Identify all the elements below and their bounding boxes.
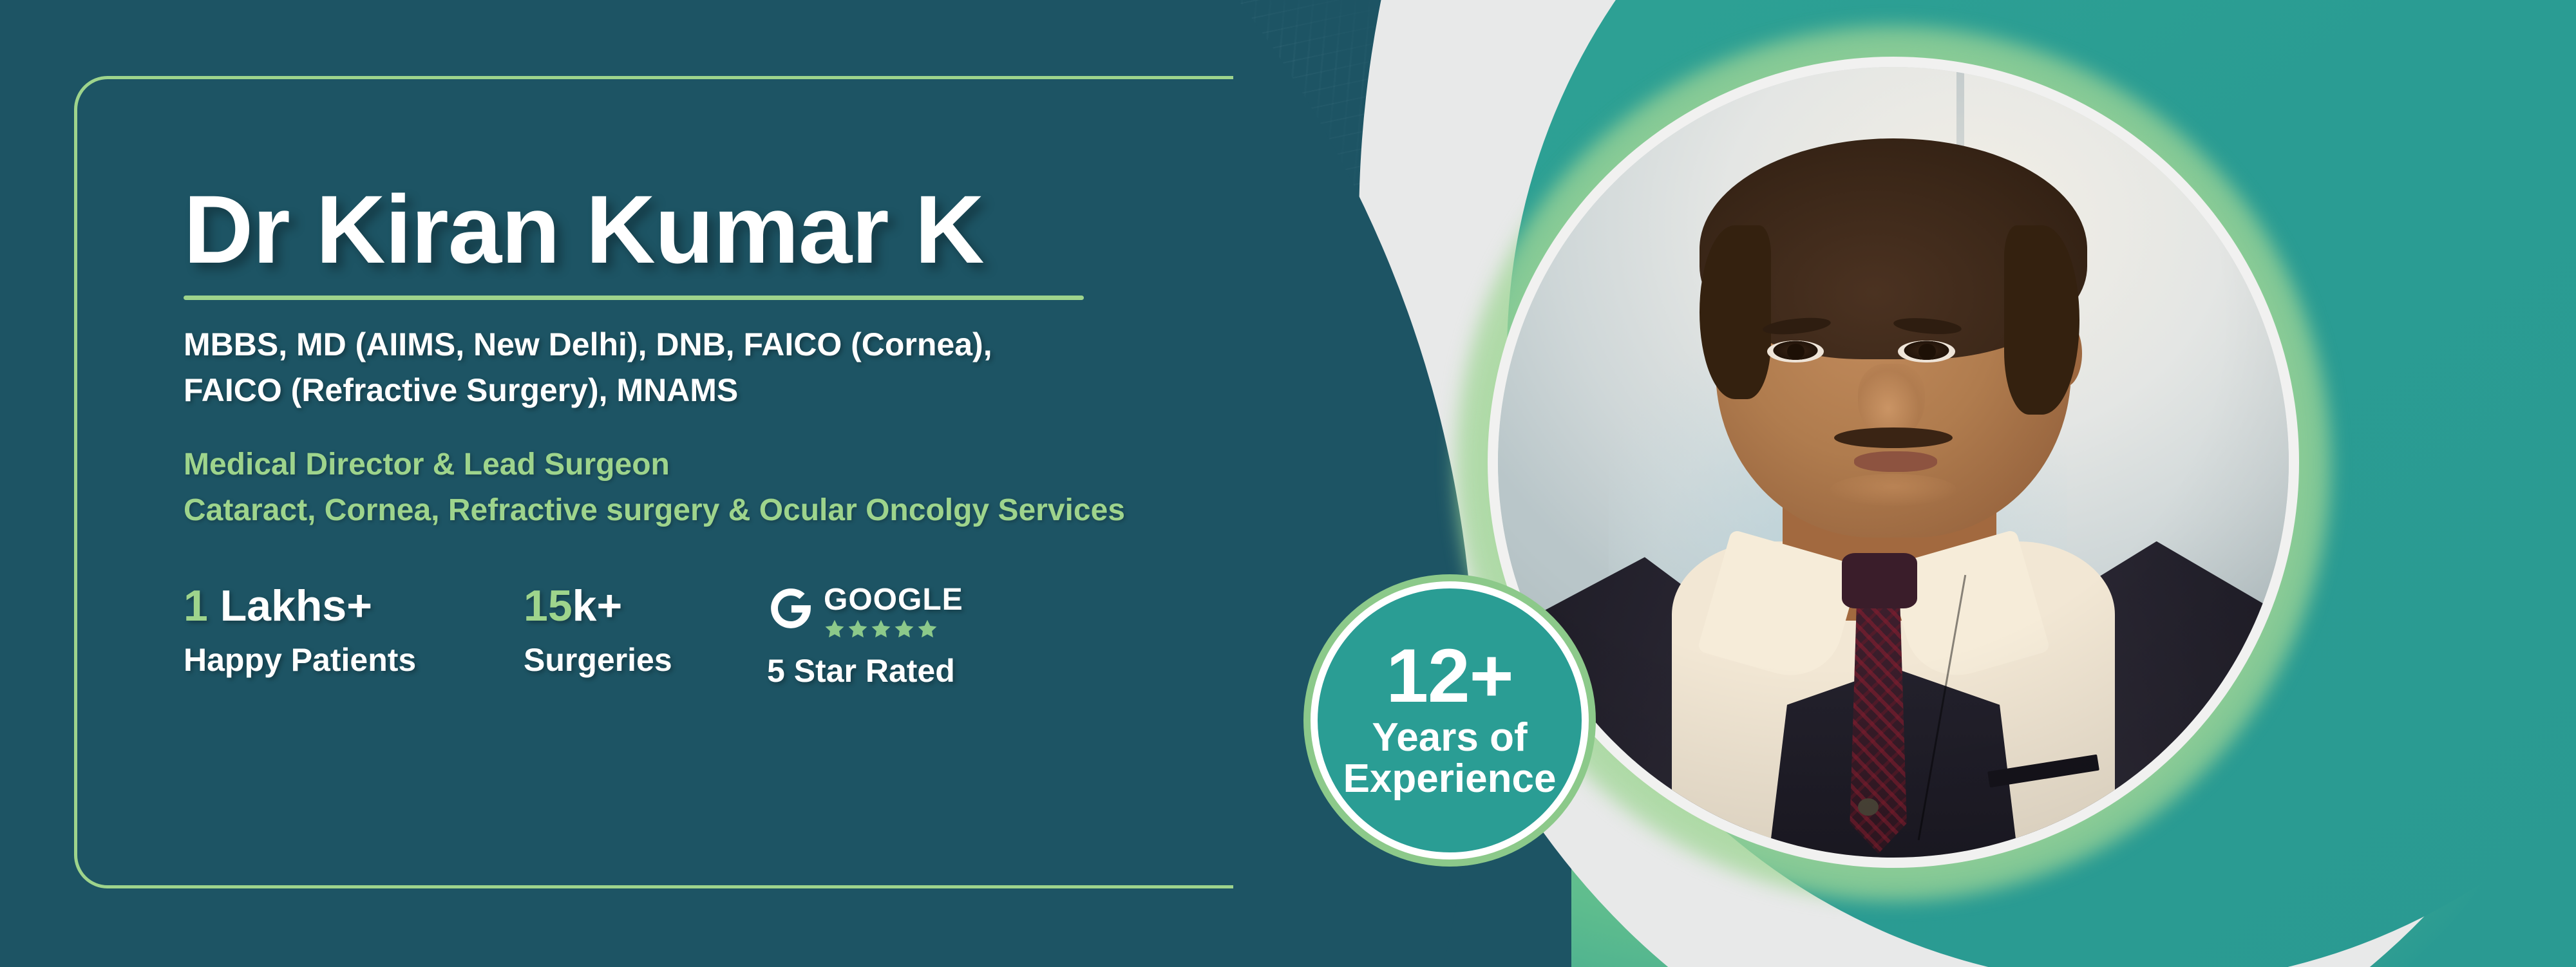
stat-label: Happy Patients (184, 643, 524, 677)
star-icon (847, 618, 869, 640)
title-underline (184, 296, 1084, 300)
stat-value-highlight: 15 (524, 581, 573, 630)
banner-root: Dr Kiran Kumar K MBBS, MD (AIIMS, New De… (0, 0, 2576, 967)
stat-value: 15k+ (524, 583, 767, 629)
stat-value-rest: Lakhs+ (208, 581, 372, 630)
portrait-vignette (1498, 67, 2289, 858)
role-line-2: Cataract, Cornea, Refractive surgery & O… (184, 487, 1278, 533)
star-icon (916, 618, 938, 640)
experience-badge: 12+ Years of Experience (1311, 581, 1589, 859)
credentials: MBBS, MD (AIIMS, New Delhi), DNB, FAICO … (184, 322, 1278, 413)
banner-content: Dr Kiran Kumar K MBBS, MD (AIIMS, New De… (184, 180, 1278, 688)
roles: Medical Director & Lead Surgeon Cataract… (184, 442, 1278, 533)
google-word: GOOGLE (824, 583, 963, 617)
google-rating-row: GOOGLE (767, 583, 1025, 640)
stat-google-rating: GOOGLE 5 Star Rated (767, 583, 1025, 688)
stat-surgeries: 15k+ Surgeries (524, 583, 767, 677)
credentials-line-1: MBBS, MD (AIIMS, New Delhi), DNB, FAICO … (184, 322, 1278, 368)
star-icon (870, 618, 892, 640)
page-title: Dr Kiran Kumar K (184, 180, 1278, 279)
google-g-icon (767, 585, 815, 632)
role-line-1: Medical Director & Lead Surgeon (184, 442, 1278, 487)
google-star-rating (824, 618, 963, 640)
stats-row: 1 Lakhs+ Happy Patients 15k+ Surgeries G… (184, 583, 1278, 688)
star-icon (824, 618, 846, 640)
experience-number: 12+ (1386, 641, 1513, 712)
google-text-block: GOOGLE (824, 583, 963, 640)
stat-value: 1 Lakhs+ (184, 583, 524, 629)
doctor-portrait (1498, 67, 2289, 858)
credentials-line-2: FAICO (Refractive Surgery), MNAMS (184, 368, 1278, 413)
stat-happy-patients: 1 Lakhs+ Happy Patients (184, 583, 524, 677)
stat-label: 5 Star Rated (767, 654, 1025, 688)
experience-line-2: Experience (1343, 758, 1557, 800)
stat-label: Surgeries (524, 643, 767, 677)
star-icon (893, 618, 915, 640)
experience-line-1: Years of (1372, 717, 1527, 758)
stat-value-rest: k+ (573, 581, 623, 630)
stat-value-highlight: 1 (184, 581, 208, 630)
